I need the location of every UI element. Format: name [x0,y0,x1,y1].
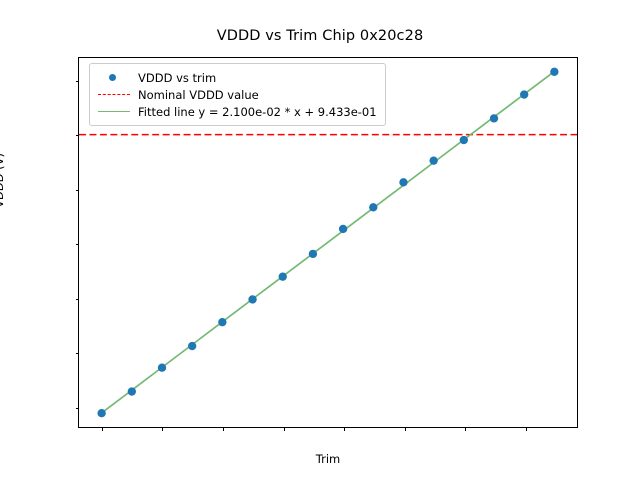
x-tick-mark [526,427,527,431]
chart-figure: VDDD vs Trim Chip 0x20c28 VDDD (V) Trim … [0,0,640,480]
data-point [97,409,105,417]
chart-legend: VDDD vs trim Nominal VDDD value Fitted l… [89,63,386,126]
data-point [369,203,377,211]
legend-dashed-line-icon [97,88,131,102]
y-tick-mark [76,353,80,354]
legend-solid-line-icon [97,105,131,119]
y-tick-mark [76,135,80,136]
legend-item[interactable]: VDDD vs trim [97,69,377,86]
data-point [279,272,287,280]
data-point [158,364,166,372]
x-tick-mark [223,427,224,431]
legend-label: Fitted line y = 2.100e-02 * x + 9.433e-0… [138,105,377,119]
data-point [128,387,136,395]
x-tick-mark [102,427,103,431]
y-tick-mark [76,299,80,300]
data-point [490,114,498,122]
data-point [550,68,558,76]
plot-area: 0.951.001.051.101.151.201.2502468101214 … [78,57,578,428]
legend-marker-icon [97,71,131,85]
y-tick-mark [76,81,80,82]
x-tick-mark [405,427,406,431]
x-tick-mark [465,427,466,431]
legend-item[interactable]: Fitted line y = 2.100e-02 * x + 9.433e-0… [97,103,377,120]
chart-title: VDDD vs Trim Chip 0x20c28 [0,28,640,44]
data-point [339,225,347,233]
y-tick-mark [76,244,80,245]
x-tick-mark [284,427,285,431]
legend-label: VDDD vs trim [138,71,216,85]
data-point [218,318,226,326]
legend-label: Nominal VDDD value [138,88,259,102]
data-point [188,342,196,350]
x-axis-label: Trim [78,452,578,466]
data-point [248,295,256,303]
y-tick-mark [76,190,80,191]
data-point [520,90,528,98]
data-point [460,136,468,144]
y-axis-label: VDDD (V) [0,153,6,208]
data-point [429,156,437,164]
data-point [309,250,317,258]
data-point [399,178,407,186]
legend-item[interactable]: Nominal VDDD value [97,86,377,103]
y-tick-mark [76,408,80,409]
x-tick-mark [162,427,163,431]
x-tick-mark [344,427,345,431]
